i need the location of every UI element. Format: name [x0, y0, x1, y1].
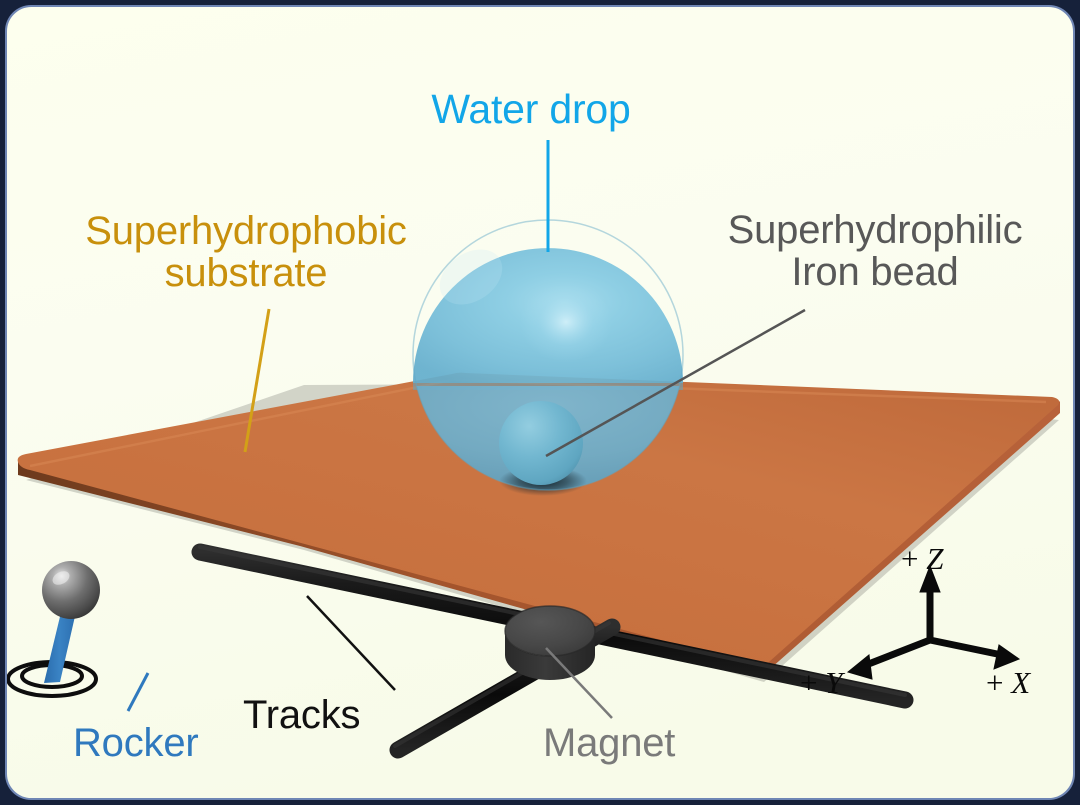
label-superhydrophobic-substrate: Superhydrophobicsubstrate: [36, 210, 456, 295]
figure-container: Water drop Superhydrophobicsubstrate Sup…: [0, 0, 1080, 805]
axis-label-y: + Y: [800, 665, 842, 701]
water-drop-highlight: [520, 282, 612, 362]
label-water-drop: Water drop: [0, 88, 1071, 131]
label-rocker: Rocker: [73, 722, 199, 764]
label-superhydrophilic-iron-bead: SuperhydrophilicIron bead: [690, 209, 1060, 294]
label-magnet: Magnet: [543, 722, 675, 764]
axis-label-z: + Z: [901, 541, 943, 577]
axis-label-x: + X: [986, 665, 1030, 701]
rocker-knob[interactable]: [42, 561, 100, 619]
magnet: [505, 606, 595, 680]
label-tracks: Tracks: [243, 694, 360, 736]
